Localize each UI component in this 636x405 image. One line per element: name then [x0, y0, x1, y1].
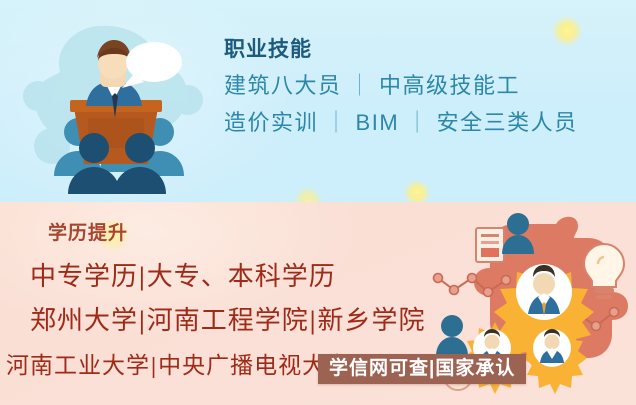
skill-item-senior-technician: 中高级技能工: [379, 73, 520, 98]
skills-line-2: 造价实训｜BIM｜安全三类人员: [224, 112, 624, 134]
speaker-at-podium-illustration: [16, 14, 212, 194]
status-badge: 学信网可查|国家承认: [318, 354, 526, 384]
separator: ｜: [342, 73, 380, 98]
vocational-skills-text-block: 职业技能 建筑八大员｜中高级技能工 造价实训｜BIM｜安全三类人员: [224, 38, 624, 149]
separator: |: [138, 306, 147, 335]
separator: |: [138, 262, 147, 291]
separator: |: [309, 306, 318, 335]
promo-banner: 职业技能 建筑八大员｜中高级技能工 造价实训｜BIM｜安全三类人员: [0, 0, 636, 405]
separator: |: [150, 353, 158, 378]
separator: ｜: [399, 110, 437, 135]
separator: ｜: [318, 110, 356, 135]
edu-item-college-bachelor: 大专、本科学历: [147, 262, 336, 291]
page-title: 职业技能: [224, 38, 624, 61]
school-henan-university-of-technology: 河南工业大学: [6, 353, 150, 378]
skill-item-safety-three-types: 安全三类人员: [437, 110, 578, 135]
school-zhengzhou-university: 郑州大学: [30, 306, 138, 335]
edu-item-vocational-diploma: 中专学历: [30, 262, 138, 291]
skill-item-bim: BIM: [356, 110, 400, 135]
school-xinxiang-university: 新乡学院: [318, 306, 426, 335]
education-line-2: 郑州大学|河南工程学院|新乡学院: [30, 308, 426, 334]
school-henan-engineering-institute: 河南工程学院: [147, 306, 309, 335]
section-title: 学历提升: [48, 224, 128, 243]
vocational-skills-panel: 职业技能 建筑八大员｜中高级技能工 造价实训｜BIM｜安全三类人员: [0, 0, 636, 202]
skill-item-construction-eight: 建筑八大员: [224, 73, 342, 98]
education-line-3: 河南工业大学|中央广播电视大学: [6, 354, 350, 377]
skill-item-cost-training: 造价实训: [224, 110, 318, 135]
skills-line-1: 建筑八大员｜中高级技能工: [224, 75, 624, 97]
education-upgrade-panel: 学历提升 中专学历|大专、本科学历 郑州大学|河南工程学院|新乡学院 河南工业大…: [0, 202, 636, 405]
education-line-1: 中专学历|大专、本科学历: [30, 264, 336, 290]
